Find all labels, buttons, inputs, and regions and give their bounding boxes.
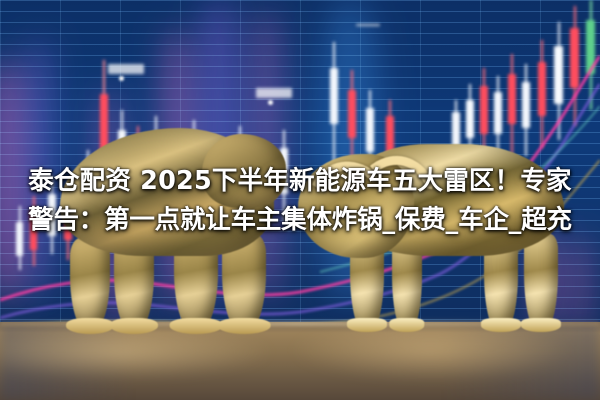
bear-leg-front-left xyxy=(70,238,110,330)
bull-leg-back-right xyxy=(524,234,558,330)
bull-hoof xyxy=(389,318,424,332)
headline-line-1: 泰仓配资 2025下半年新能源车五大雷区！专家 xyxy=(10,162,590,201)
bear-paw xyxy=(66,318,114,334)
bear-paw xyxy=(110,318,158,334)
price-dot-1 xyxy=(119,76,124,81)
headline-line-2: 警告：第一点就让车主集体炸锅_保费_车企_超充 xyxy=(10,201,590,240)
price-tag-1: 300.00 xyxy=(108,64,144,74)
news-thumbnail-image: 300.00 301.00 泰仓配资 2025下半年新能源车五大雷区！专家 警告… xyxy=(0,0,600,400)
price-dot-2 xyxy=(268,100,273,105)
bear-paw xyxy=(170,318,223,334)
price-tag-2: 301.00 xyxy=(256,88,292,98)
bear-paw xyxy=(218,318,271,334)
bull-hoof xyxy=(481,318,521,332)
bull-hoof xyxy=(347,318,387,332)
price-tag-3 xyxy=(356,24,380,26)
headline-overlay: 泰仓配资 2025下半年新能源车五大雷区！专家 警告：第一点就让车主集体炸锅_保… xyxy=(0,162,600,240)
bull-hoof xyxy=(521,318,561,332)
